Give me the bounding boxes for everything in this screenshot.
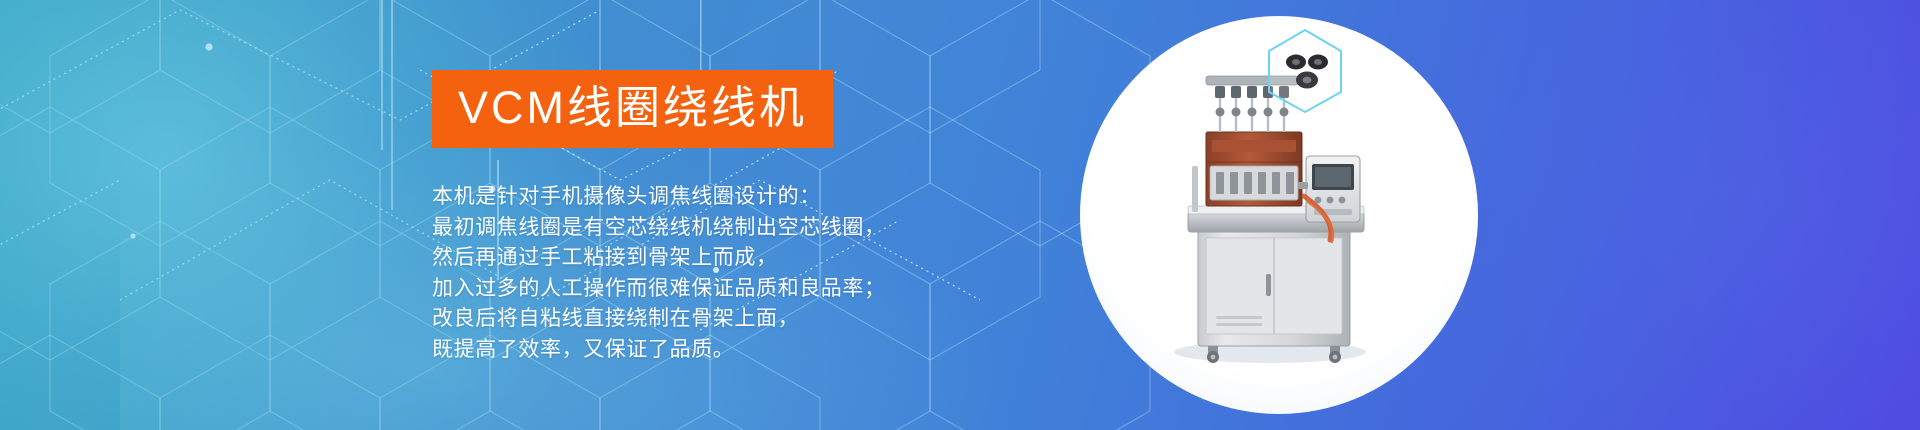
description-line-6: 既提高了效率，又保证了品质。	[432, 335, 992, 366]
description-line-1: 本机是针对手机摄像头调焦线圈设计的：	[432, 182, 992, 213]
description-line-4: 加入过多的人工操作而很难保证品质和良品率；	[432, 274, 992, 305]
promo-banner: VCM线圈绕线机 本机是针对手机摄像头调焦线圈设计的： 最初调焦线圈是有空芯绕线…	[0, 0, 1920, 430]
product-title-box: VCM线圈绕线机	[432, 70, 833, 148]
description-line-5: 改良后将自粘线直接绕制在骨架上面，	[432, 304, 992, 335]
product-description: 本机是针对手机摄像头调焦线圈设计的： 最初调焦线圈是有空芯绕线机绕制出空芯线圈，…	[432, 182, 992, 365]
description-line-2: 最初调焦线圈是有空芯绕线机绕制出空芯线圈，	[432, 213, 992, 244]
coil-hex-badge	[1266, 28, 1344, 114]
description-line-3: 然后再通过手工粘接到骨架上而成，	[432, 243, 992, 274]
page-title: VCM线圈绕线机	[458, 82, 807, 134]
